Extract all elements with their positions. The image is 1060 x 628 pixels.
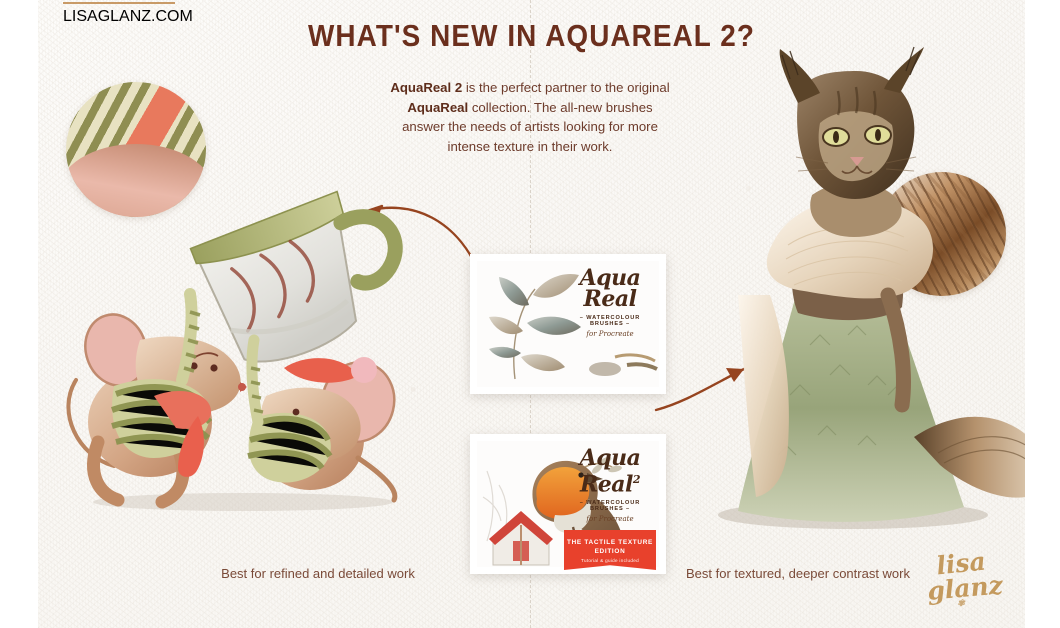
card-subtitle-2: – WATERCOLOUR BRUSHES – bbox=[562, 500, 658, 512]
product-card-aquareal-1[interactable]: Aqua Real – WATERCOLOUR BRUSHES – for Pr… bbox=[470, 254, 666, 394]
intro-text-5: intense texture in their work. bbox=[448, 139, 613, 154]
brand-rule bbox=[63, 2, 175, 4]
card-brand-line1-2: Aqua bbox=[562, 448, 658, 469]
illustration-cat bbox=[678, 45, 1025, 535]
product-card-aquareal-2[interactable]: Aqua Real2 – WATERCOLOUR BRUSHES – for P… bbox=[470, 434, 666, 574]
tactile-edition-ribbon: THE TACTILE TEXTURE EDITION Tutorial & g… bbox=[564, 530, 656, 570]
card-brand-line2-2: Real2 bbox=[562, 469, 658, 495]
intro-bold-2: AquaReal bbox=[407, 100, 468, 115]
intro-paragraph: AquaReal 2 is the perfect partner to the… bbox=[385, 78, 675, 156]
caption-left: Best for refined and detailed work bbox=[173, 565, 463, 583]
poster-page: LISAGLANZ.COM WHAT'S NEW IN AQUAREAL 2? … bbox=[38, 0, 1025, 628]
card-tagline-1: for Procreate bbox=[562, 330, 658, 338]
card-tagline-2: for Procreate bbox=[562, 515, 658, 523]
intro-text-1: is the perfect partner bbox=[462, 80, 587, 95]
card-brand-line2: Real bbox=[562, 289, 658, 310]
signature-lisa-glanz: lisa glanz ✾ bbox=[906, 552, 1016, 618]
intro-text-2a: to the original bbox=[590, 80, 669, 95]
caption-right: Best for textured, deeper contrast work bbox=[648, 565, 948, 583]
ribbon-title: THE TACTILE TEXTURE EDITION bbox=[564, 530, 656, 556]
illustration-mice bbox=[58, 190, 448, 520]
card-subtitle-1: – WATERCOLOUR BRUSHES – bbox=[562, 315, 658, 327]
card-superscript: 2 bbox=[633, 473, 640, 486]
card-logo-2: Aqua Real2 – WATERCOLOUR BRUSHES – for P… bbox=[562, 448, 658, 523]
intro-text-2b: collection. bbox=[468, 100, 530, 115]
card-logo-1: Aqua Real – WATERCOLOUR BRUSHES – for Pr… bbox=[562, 268, 658, 338]
intro-bold-1: AquaReal 2 bbox=[390, 80, 462, 95]
signature-flourish-icon: ✾ bbox=[906, 599, 1016, 609]
ribbon-subtitle: Tutorial & guide included bbox=[564, 558, 656, 563]
intro-text-4: needs of artists looking for more bbox=[470, 119, 658, 134]
